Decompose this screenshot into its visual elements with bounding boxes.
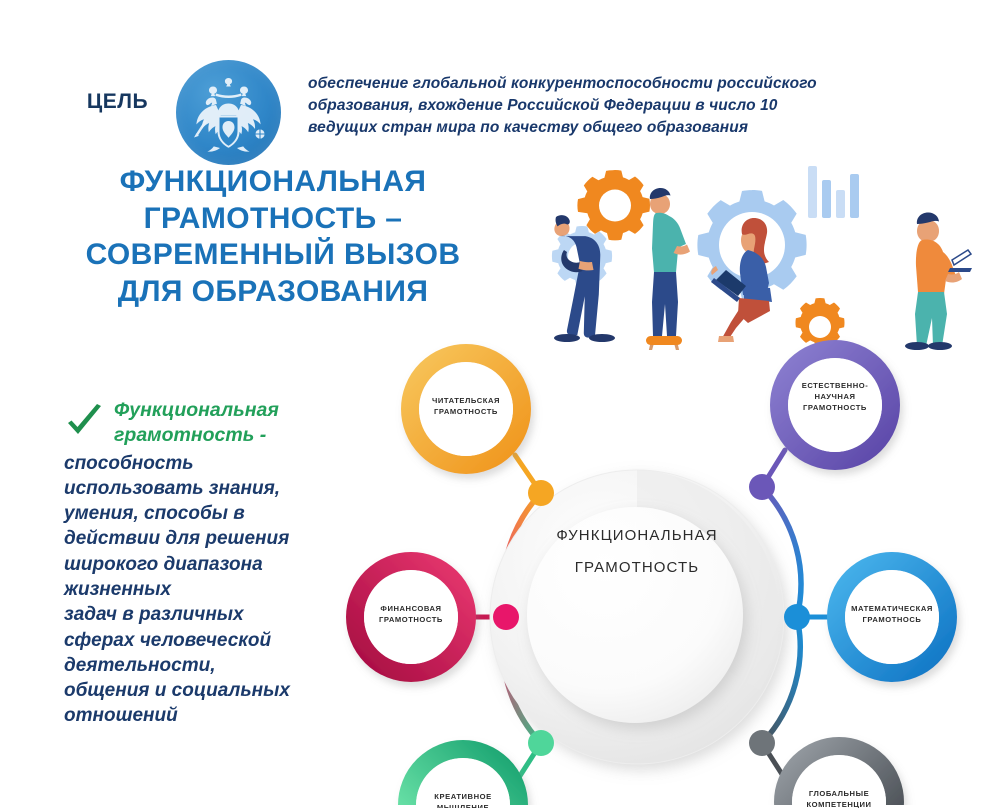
connector-node-mathematical bbox=[784, 604, 810, 630]
goal-label: ЦЕЛЬ bbox=[65, 90, 170, 114]
center-label-line: ФУНКЦИОНАЛЬНАЯ bbox=[512, 520, 762, 552]
page-title-line: ГРАМОТНОСТЬ – bbox=[48, 201, 498, 238]
connector-node-reading bbox=[528, 480, 554, 506]
bar-chart-icon bbox=[808, 166, 859, 218]
goal-text-line: обеспечение глобальной конкурентоспособн… bbox=[308, 73, 908, 95]
person-on-stool bbox=[646, 188, 690, 350]
green-checkmark-icon bbox=[64, 404, 106, 446]
person-with-laptop-orange bbox=[905, 212, 972, 350]
page-title: ФУНКЦИОНАЛЬНАЯ ГРАМОТНОСТЬ – СОВРЕМЕННЫЙ… bbox=[48, 164, 498, 310]
center-label-line: ГРАМОТНОСТЬ bbox=[512, 552, 762, 584]
connector-node-financial bbox=[493, 604, 519, 630]
diagram-center-label: ФУНКЦИОНАЛЬНАЯ ГРАМОТНОСТЬ bbox=[512, 520, 762, 583]
page-title-line: ДЛЯ ОБРАЗОВАНИЯ bbox=[48, 274, 498, 311]
goal-section: ЦЕЛЬ bbox=[0, 28, 994, 153]
goal-text-line: образования, вхождение Российской Федера… bbox=[308, 95, 908, 117]
page-title-line: СОВРЕМЕННЫЙ ВЫЗОВ bbox=[48, 237, 498, 274]
connector-node-global-competencies bbox=[749, 730, 775, 756]
connector-node-creative-thinking bbox=[528, 730, 554, 756]
goal-text: обеспечение глобальной конкурентоспособн… bbox=[308, 73, 908, 139]
infographic-page: ЦЕЛЬ bbox=[0, 0, 994, 808]
page-title-line: ФУНКЦИОНАЛЬНАЯ bbox=[48, 164, 498, 201]
russian-coat-of-arms-icon bbox=[176, 60, 281, 165]
people-with-gears-illustration bbox=[520, 158, 982, 350]
functional-literacy-diagram: ФУНКЦИОНАЛЬНАЯ ГРАМОТНОСТЬ ЧИТАТЕЛЬСКАЯ … bbox=[330, 335, 970, 805]
goal-text-line: ведущих стран мира по качеству общего об… bbox=[308, 117, 908, 139]
connector-node-natural-science bbox=[749, 474, 775, 500]
